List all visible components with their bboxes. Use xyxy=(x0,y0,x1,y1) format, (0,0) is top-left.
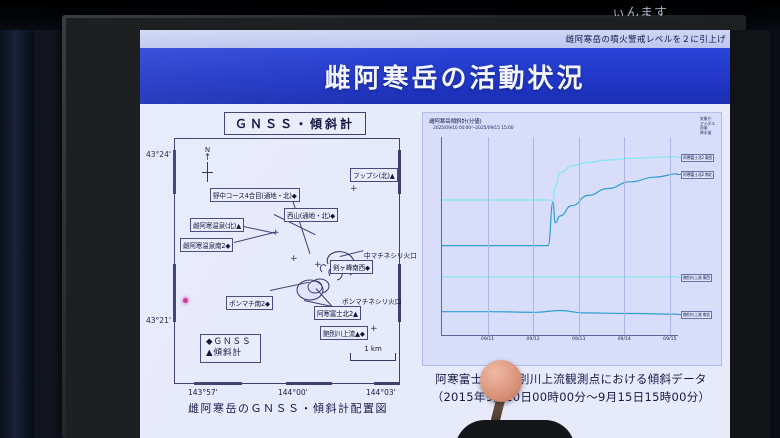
chart-series-endcap xyxy=(677,277,681,278)
slide-body: ＧＮＳＳ・傾斜計 xyxy=(140,104,730,438)
presenter-shoulder xyxy=(455,420,575,438)
leader-1 xyxy=(292,198,311,253)
station-label-akanfuji-kita2: 阿寒富士北2▲ xyxy=(314,306,361,320)
chart-x-tick-label: 09/12 xyxy=(526,337,539,342)
ticker-right-mask xyxy=(730,30,770,48)
page-title: 雌阿寒岳の活動状況 xyxy=(324,58,585,95)
chart-series-label: 飽別川上流 東西 xyxy=(681,274,712,282)
chart-gridline xyxy=(624,137,625,335)
chart-x-tick-label: 09/14 xyxy=(618,337,631,342)
north-cross xyxy=(202,172,213,173)
station-label-akubetsu: 飽別川上流▲◆ xyxy=(320,326,368,340)
chart-gridline xyxy=(533,137,534,335)
map-heading: ＧＮＳＳ・傾斜計 xyxy=(224,112,366,135)
map-caption: 雌阿寒岳のＧＮＳＳ・傾斜計配置図 xyxy=(162,400,414,416)
lon-tick-a xyxy=(194,382,242,385)
map-border-top xyxy=(174,138,400,139)
chart-gridline xyxy=(670,137,671,335)
chart-subtitle: 2025/09/10 00:00〜2025/09/15 15:00 xyxy=(433,125,513,131)
lon-tick-b xyxy=(286,382,332,385)
lat-tick-a xyxy=(173,150,176,194)
crater-label-pon: ポンマチネシリ火口 xyxy=(342,296,401,306)
lat-tick-a2 xyxy=(398,150,401,194)
station-marker-1 xyxy=(290,256,297,263)
chart-title: 雌阿寒岳傾斜計(分値) xyxy=(429,117,482,125)
station-label-nishiyama: 西山(通地・北)◆ xyxy=(284,208,338,222)
chart-line-series xyxy=(442,311,678,315)
chart-caption-line2: （2015年9月10日00時00分〜9月15日15時00分） xyxy=(420,388,722,406)
tilt-chart-panel: 雌阿寒岳傾斜計(分値) 2025/09/10 00:00〜2025/09/15 … xyxy=(422,112,722,422)
slide-title-band: 雌阿寒岳の活動状況 xyxy=(140,48,770,104)
news-ticker-bar: 雌阿寒岳の噴火警戒レベルを２に引上げ xyxy=(140,30,770,48)
lat-tick-b2 xyxy=(398,264,401,322)
station-marker-7 xyxy=(370,326,377,333)
map-frame: N ↑ xyxy=(174,138,400,384)
chart-series-endcap xyxy=(677,314,681,315)
chart-series-label: 阿寒富士北2 南北 xyxy=(681,171,714,179)
body-right-mask xyxy=(730,104,770,438)
scalebar-label: 1 km xyxy=(350,345,396,353)
chart-series-curves xyxy=(442,137,678,335)
leader-4 xyxy=(234,231,277,243)
lat-label-4324: 43°24' xyxy=(146,150,171,159)
chart-gridline xyxy=(579,137,580,335)
title-right-mask xyxy=(730,48,770,104)
legend-tiltmeter: ▲傾斜計 xyxy=(206,348,252,359)
scalebar-bar xyxy=(350,353,396,361)
chart-gridline xyxy=(488,137,489,335)
crater-outline-pon xyxy=(292,278,334,308)
gnss-map-panel: ＧＮＳＳ・傾斜計 xyxy=(152,112,414,422)
map-scalebar: 1 km xyxy=(350,346,396,361)
chart-series-endcap xyxy=(677,174,681,175)
chart-x-tick-label: 09/15 xyxy=(663,337,676,342)
station-label-huppushi: フップシ(北)▲ xyxy=(350,168,398,182)
lon-label-14403: 144°03' xyxy=(366,388,396,397)
chart-series-label: 阿寒富士北2 東西 xyxy=(681,154,714,162)
presentation-slide: 雌阿寒岳の噴火警戒レベルを２に引上げ 雌阿寒岳の活動状況 ＧＮＳＳ・傾斜計 xyxy=(140,30,770,438)
map-marker-dot xyxy=(183,298,188,303)
chart-line-series xyxy=(442,174,678,246)
lon-label-14357: 143°57' xyxy=(188,388,218,397)
chart-x-tick-label: 09/11 xyxy=(481,337,494,342)
north-arrow-glyph: ↑ xyxy=(202,154,213,162)
lon-label-14400: 144°00' xyxy=(278,388,308,397)
chart-caption: 阿寒富士北・飽別川上流観測点における傾斜データ （2015年9月10日00時00… xyxy=(420,370,722,406)
chart-caption-line1: 阿寒富士北・飽別川上流観測点における傾斜データ xyxy=(420,370,722,388)
chart-plot-area: 09/1109/1209/1309/1409/15 xyxy=(441,137,678,336)
station-label-nonaka: 野中コース4合目(通地・北)◆ xyxy=(210,188,300,202)
lon-tick-c xyxy=(374,382,400,385)
broadcast-frame: ぃんます 雌阿寒岳の噴火警戒レベルを２に引上げ 雌阿寒岳の活動状況 ＧＮＳＳ・傾… xyxy=(0,0,780,438)
lat-label-4321: 43°21' xyxy=(146,316,171,325)
legend-gnss: ◆ＧＮＳＳ xyxy=(206,337,252,348)
chart-keynote: 気象庁アメダス雨量降水量 xyxy=(700,117,715,135)
crater-label-naka: 中マチネシリ火口 xyxy=(364,250,417,260)
overlay-partial-text: ぃんます xyxy=(612,2,668,16)
presenter-head xyxy=(480,360,522,402)
station-label-kengamine: 剣ヶ峰南西◆ xyxy=(330,260,373,274)
station-label-meakan-onsen-kita: 雌阿寒温泉(北)▲ xyxy=(190,218,244,232)
chart-series-endcap xyxy=(677,157,681,158)
chart-x-tick-label: 09/13 xyxy=(572,337,585,342)
north-arrow: N ↑ xyxy=(202,146,213,173)
station-marker-3 xyxy=(350,186,357,193)
chart-series-label: 飽別川上流 南北 xyxy=(681,311,712,319)
station-label-ponmachi: ポンマチ南2◆ xyxy=(226,296,273,310)
backdrop-highlight xyxy=(0,0,34,438)
tilt-chart: 雌阿寒岳傾斜計(分値) 2025/09/10 00:00〜2025/09/15 … xyxy=(422,112,722,366)
map-legend: ◆ＧＮＳＳ ▲傾斜計 xyxy=(200,334,261,363)
station-label-meakan-onsen-minami2: 雌阿寒温泉南2◆ xyxy=(180,238,233,252)
lat-tick-b xyxy=(173,264,176,322)
